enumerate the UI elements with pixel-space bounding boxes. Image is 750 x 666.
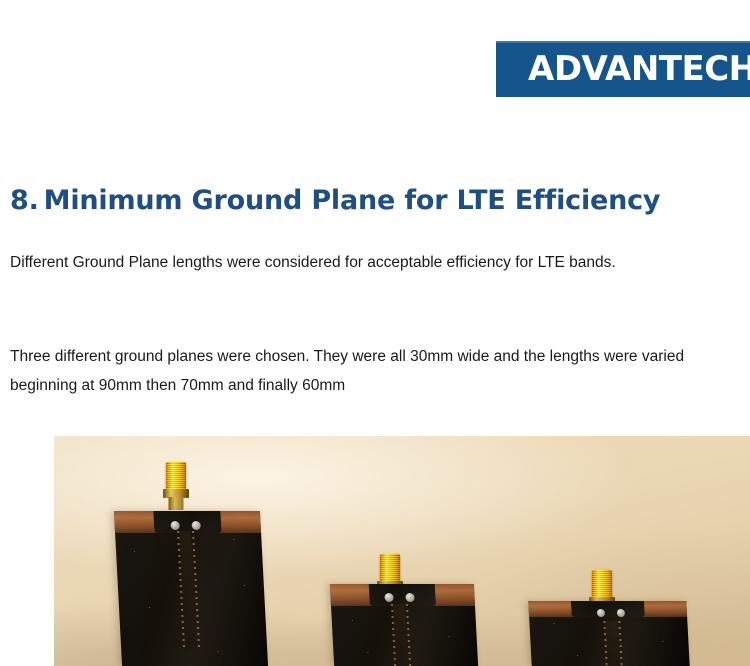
paragraph-1: Different Ground Plane lengths were cons… [10,248,745,277]
page-title: 8.Minimum Ground Plane for LTE Efficienc… [10,186,660,216]
ground-plane-photo [54,436,750,666]
sma-connector-1 [159,462,193,514]
section-title-text: Minimum Ground Plane for LTE Efficiency [44,185,661,216]
pcb-board-3 [528,601,689,666]
copper-pad-1 [114,511,261,533]
page-header: ADVANTECH [0,0,750,130]
copper-pad-3 [528,601,687,617]
copper-pad-2 [330,584,475,606]
section-number: 8. [10,185,39,216]
pcb-board-2 [330,584,478,666]
antenna-board-70mm [322,436,482,666]
advantech-brand-banner: ADVANTECH [496,41,750,97]
antenna-board-90mm [104,436,264,666]
advantech-logo-text: ADVANTECH [528,52,750,86]
paragraph-2: Three different ground planes were chose… [10,342,745,400]
antenna-board-60mm [516,436,686,666]
pcb-board-1 [114,511,268,666]
